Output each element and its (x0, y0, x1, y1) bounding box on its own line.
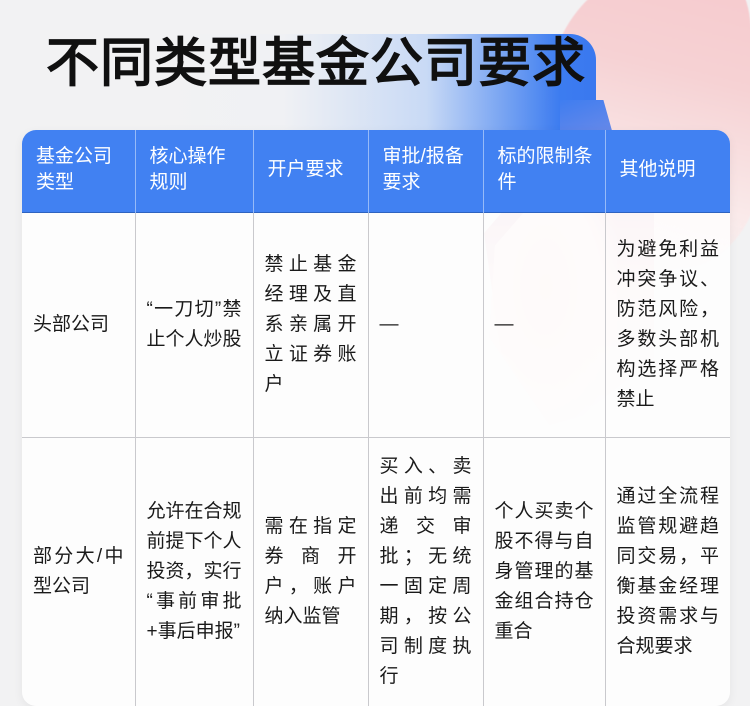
cell-account-req: 需在指定券商开户，账户纳入监管 (253, 438, 368, 706)
cell-core-rule: “一刀切”禁止个人炒股 (135, 213, 253, 438)
cell-approval-req: — (368, 213, 483, 438)
table-row: 头部公司 “一刀切”禁止个人炒股 禁止基金经理及直系亲属开立证券账户 — — 为… (22, 213, 730, 438)
cell-core-rule: 允许在合规前提下个人投资，实行“事前审批+事后申报” (135, 438, 253, 706)
requirements-table: 基金公司类型 核心操作规则 开户要求 审批/报备要求 标的限制条件 其他说明 头… (22, 130, 730, 706)
cell-company-type: 部分大/中型公司 (22, 438, 135, 706)
table-body: 头部公司 “一刀切”禁止个人炒股 禁止基金经理及直系亲属开立证券账户 — — 为… (22, 213, 730, 706)
column-header-core-rule: 核心操作规则 (135, 130, 253, 213)
column-header-company-type: 基金公司类型 (22, 130, 135, 213)
table-header-row: 基金公司类型 核心操作规则 开户要求 审批/报备要求 标的限制条件 其他说明 (22, 130, 730, 213)
column-header-account-opening: 开户要求 (253, 130, 368, 213)
cell-other-notes: 通过全流程监管规避趋同交易，平衡基金经理投资需求与合规要求 (605, 438, 730, 706)
table-row: 部分大/中型公司 允许在合规前提下个人投资，实行“事前审批+事后申报” 需在指定… (22, 438, 730, 706)
column-header-other: 其他说明 (605, 130, 730, 213)
column-header-target-limit: 标的限制条件 (483, 130, 605, 213)
cell-company-type: 头部公司 (22, 213, 135, 438)
requirements-table-container: 基金公司类型 核心操作规则 开户要求 审批/报备要求 标的限制条件 其他说明 头… (22, 130, 730, 706)
cell-other-notes: 为避免利益冲突争议、防范风险，多数头部机构选择严格禁止 (605, 213, 730, 438)
cell-target-limit: 个人买卖个股不得与自身管理的基金组合持仓重合 (483, 438, 605, 706)
cell-account-req: 禁止基金经理及直系亲属开立证券账户 (253, 213, 368, 438)
cell-approval-req: 买入、卖出前均需递交审批；无统一固定周期，按公司制度执行 (368, 438, 483, 706)
column-header-approval: 审批/报备要求 (368, 130, 483, 213)
cell-target-limit: — (483, 213, 605, 438)
table-header: 基金公司类型 核心操作规则 开户要求 审批/报备要求 标的限制条件 其他说明 (22, 130, 730, 213)
page-title: 不同类型基金公司要求 (46, 32, 586, 96)
